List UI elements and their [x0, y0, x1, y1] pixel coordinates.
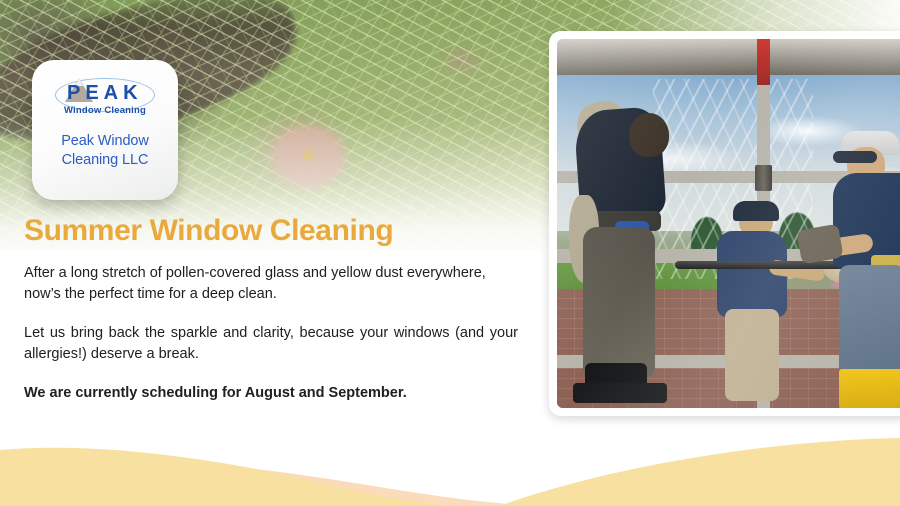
bottom-wave-decoration: [0, 416, 900, 506]
worker-cap-bill: [833, 151, 877, 163]
worker-foreground: [567, 109, 671, 399]
window-latch: [757, 39, 770, 85]
step-ladder: [839, 369, 900, 408]
peak-logo-mark: PEAK Window Cleaning: [49, 74, 161, 122]
worker-legs: [583, 227, 655, 377]
worker-head: [629, 113, 669, 157]
worker-right: [811, 131, 900, 407]
wave-svg: [0, 416, 900, 506]
feature-photo: [557, 39, 900, 408]
copy-column: Summer Window Cleaning After a long stre…: [24, 214, 524, 404]
worker-legs: [725, 309, 779, 401]
paragraph-scheduling: We are currently scheduling for August a…: [24, 383, 464, 404]
paragraph-intro: After a long stretch of pollen-covered g…: [24, 263, 518, 304]
wave-yellow-right-shape: [500, 438, 900, 506]
worker-step-stool: [573, 383, 667, 403]
logo-peak-text: PEAK: [67, 83, 143, 103]
washing-mitt: [796, 224, 843, 265]
worker-cap: [733, 201, 779, 221]
worker-middle: [707, 205, 793, 405]
company-name: Peak WindowCleaning LLC: [38, 132, 172, 169]
marketing-poster: PEAK Window Cleaning Peak WindowCleaning…: [0, 0, 900, 506]
window-hinge-top: [755, 165, 772, 191]
window-header-beam: [557, 39, 900, 75]
logo-tagline: Window Cleaning: [55, 105, 155, 116]
brand-logo-card: PEAK Window Cleaning Peak WindowCleaning…: [32, 60, 178, 200]
page-title: Summer Window Cleaning: [24, 214, 524, 247]
feature-photo-card: [549, 31, 900, 416]
paragraph-pitch: Let us bring back the sparkle and clarit…: [24, 323, 518, 364]
worker-legs: [839, 265, 900, 381]
